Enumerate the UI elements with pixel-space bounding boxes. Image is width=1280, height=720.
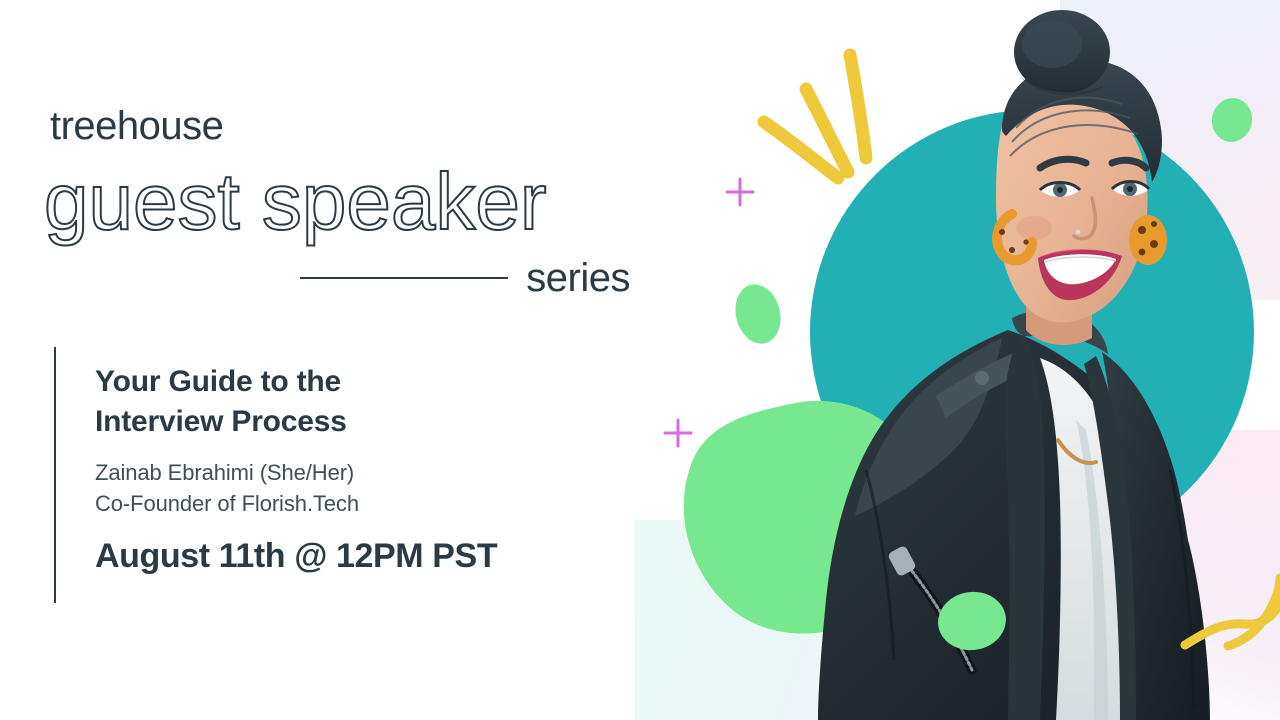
speaker-role: Co-Founder of Florish.Tech [95,488,497,519]
speaker-name: Zainab Ebrahimi (She/Her) [95,457,497,488]
brand-wordmark: treehouse [50,106,223,146]
earring-right [1129,215,1167,265]
portrait-body [818,309,1210,720]
promo-graphic: treehouse guest speaker series Your Guid… [0,0,1280,720]
event-details: Your Guide to the Interview Process Zain… [54,347,497,603]
talk-title: Your Guide to the Interview Process [95,362,497,441]
series-divider-rule [300,277,508,279]
magenta-plus-lower [665,420,691,446]
series-label: series [526,258,630,298]
event-datetime: August 11th @ 12PM PST [95,538,497,575]
text-column: treehouse guest speaker series Your Guid… [0,0,660,720]
series-row: series [300,258,630,298]
speaker-portrait [740,0,1280,720]
portrait-head [996,10,1167,322]
headline-outline-text: guest speaker [44,160,547,244]
